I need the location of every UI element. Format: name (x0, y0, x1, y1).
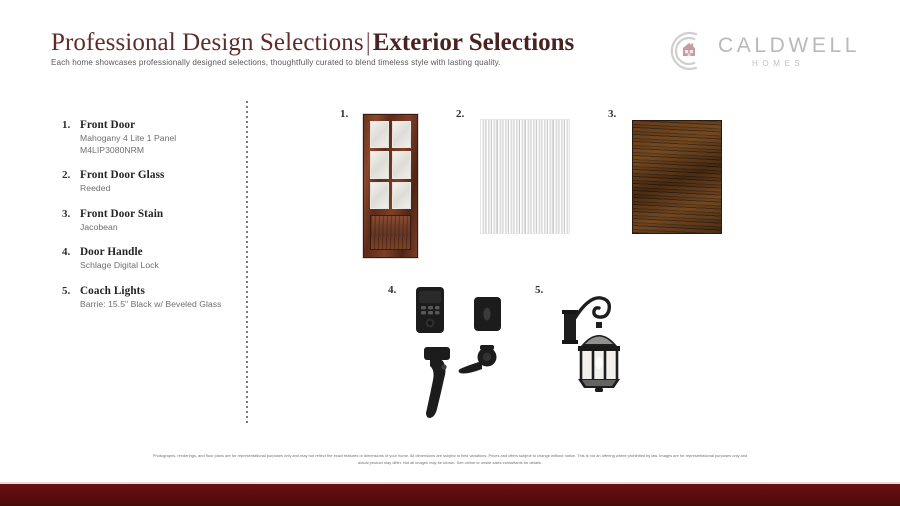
keypad-deadbolt-graphic (416, 287, 444, 333)
legal-disclaimer: Photographs, renderings, and floor plans… (150, 452, 750, 466)
door-lower-panel (370, 215, 411, 250)
handle-grip-graphic (424, 347, 450, 418)
jacobean-stain-image (632, 120, 722, 234)
door-lite (392, 182, 411, 209)
door-lite (370, 151, 389, 178)
reeded-glass-image (480, 119, 570, 234)
lever-handle-graphic (459, 345, 497, 374)
selections-image-panel: 1. 2. 3. 4. (0, 0, 900, 506)
jacobean-stain-graphic (632, 120, 722, 234)
coach-lantern-graphic (562, 298, 620, 392)
figure-number-4: 4. (388, 284, 396, 296)
front-door-image (363, 114, 418, 258)
door-lite (370, 121, 389, 148)
figure-number-5: 5. (535, 284, 543, 296)
figure-number-3: 3. (608, 108, 616, 120)
door-handle-image (410, 285, 515, 430)
reeded-glass-graphic (480, 119, 570, 234)
door-lites-group (370, 121, 411, 209)
bottom-bar (0, 484, 900, 506)
figure-number-2: 2. (456, 108, 464, 120)
door-lite (392, 121, 411, 148)
figure-number-1: 1. (340, 108, 348, 120)
door-lite (370, 182, 389, 209)
front-door-graphic (363, 114, 418, 258)
coach-light-image (558, 288, 630, 396)
door-lite (392, 151, 411, 178)
deadbolt-plate-graphic (474, 297, 501, 331)
